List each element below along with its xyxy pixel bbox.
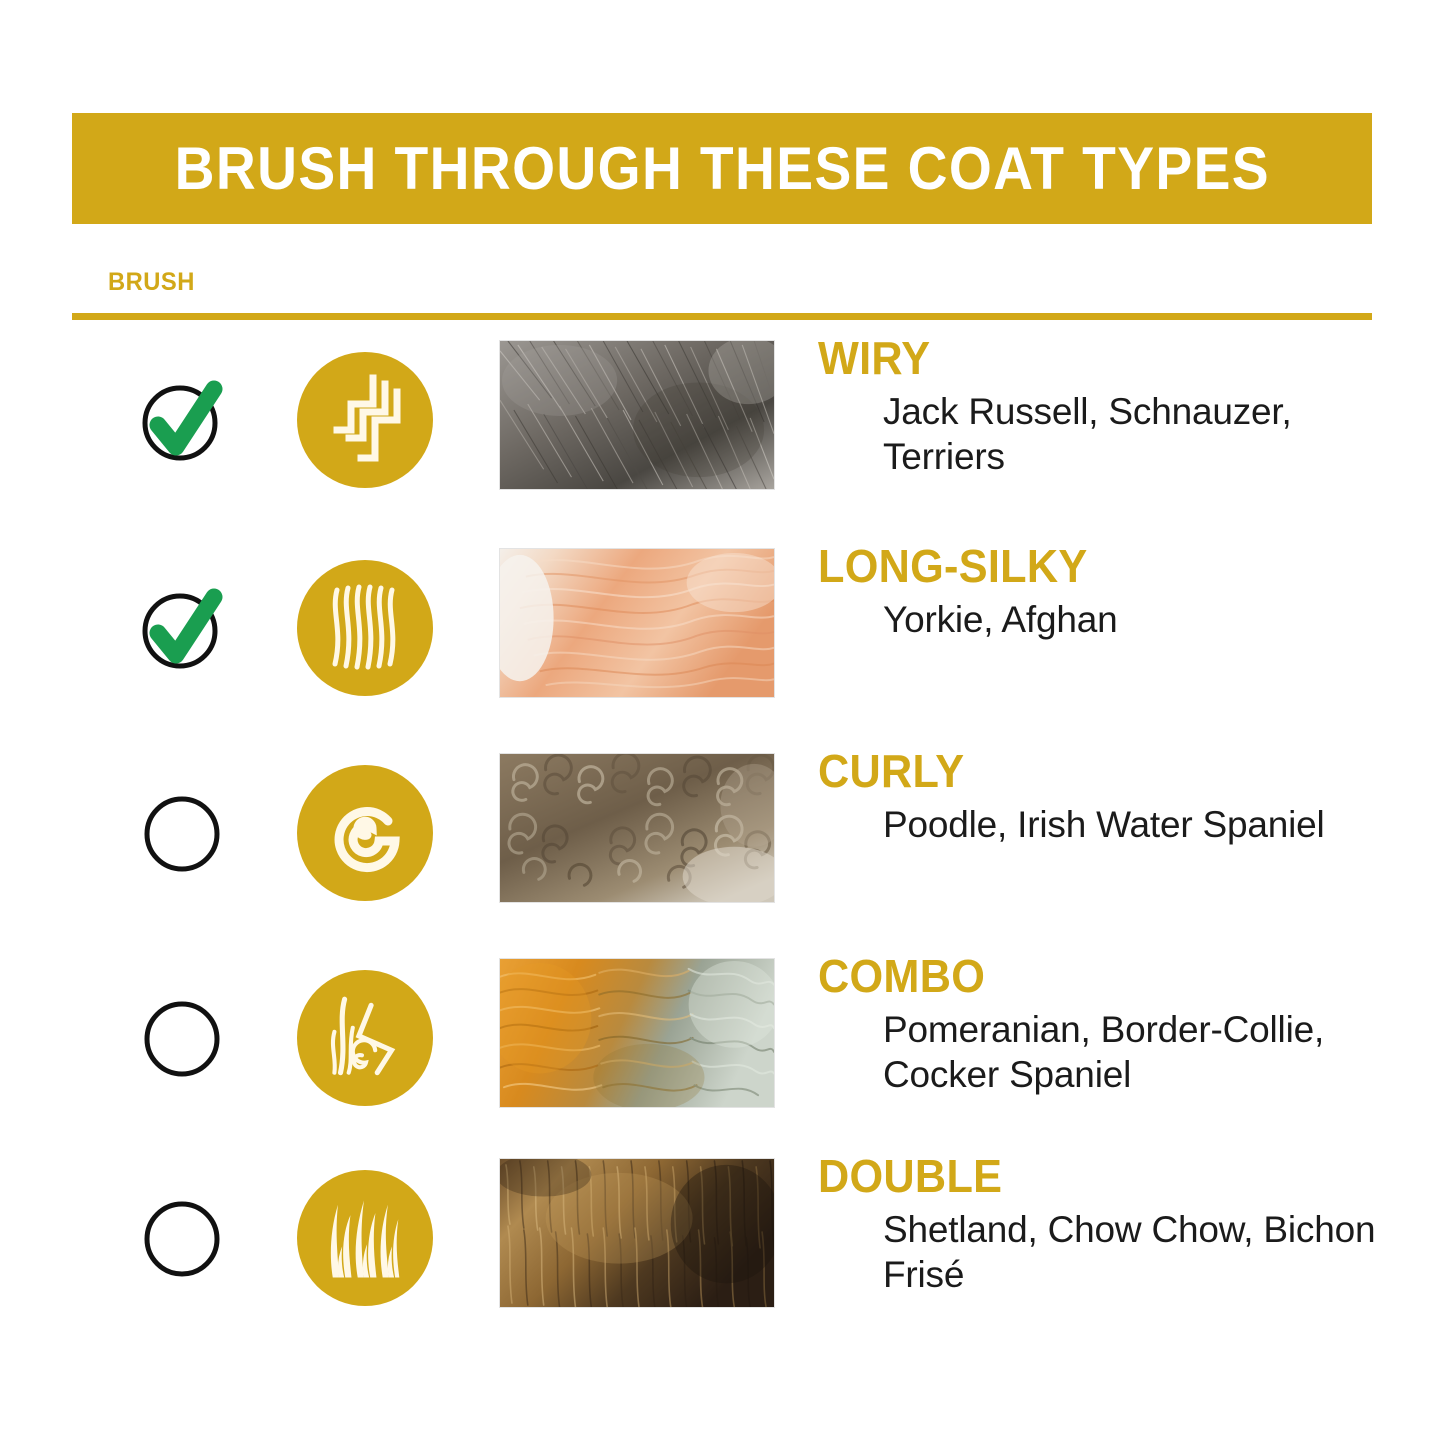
- page-title: BRUSH THROUGH THESE COAT TYPES: [174, 139, 1269, 199]
- coat-type-name: COMBO: [818, 952, 1382, 1001]
- list-item: CURLY Poodle, Irish Water Spaniel: [0, 753, 1445, 958]
- long-silky-coat-photo: [499, 548, 775, 698]
- icon-circle: [297, 1170, 433, 1306]
- coat-icon-cell-long-silky: [285, 548, 445, 708]
- double-fur-texture: [500, 1159, 774, 1307]
- combo-fur-texture: [500, 959, 774, 1107]
- curly-fur-texture: [500, 754, 774, 902]
- brush-checkbox-wiry[interactable]: [120, 340, 250, 500]
- double-strands-icon: [313, 1186, 417, 1290]
- coat-breed-list: Pomeranian, Border-Collie, Cocker Spanie…: [883, 1007, 1418, 1097]
- list-item: DOUBLE Shetland, Chow Chow, Bichon Frisé: [0, 1158, 1445, 1358]
- wiry-fur-texture: [500, 341, 774, 489]
- coat-type-name: LONG-SILKY: [818, 542, 1382, 591]
- check-circle-icon: [130, 365, 240, 475]
- coat-type-name: CURLY: [818, 747, 1382, 796]
- coat-icon-cell-wiry: [285, 340, 445, 500]
- coat-text-double: DOUBLE Shetland, Chow Chow, Bichon Frisé: [818, 1152, 1418, 1297]
- coat-type-list: WIRY Jack Russell, Schnauzer, Terriers: [0, 340, 1445, 1358]
- combo-mixed-icon: [314, 987, 416, 1089]
- brush-checkbox-combo[interactable]: [120, 958, 250, 1118]
- column-header-brush: BRUSH: [108, 268, 195, 297]
- icon-circle: [297, 560, 433, 696]
- double-coat-photo: [499, 1158, 775, 1308]
- coat-text-wiry: WIRY Jack Russell, Schnauzer, Terriers: [818, 334, 1418, 479]
- infographic-page: BRUSH THROUGH THESE COAT TYPES BRUSH: [0, 0, 1445, 1445]
- brush-checkbox-double[interactable]: [120, 1158, 250, 1318]
- long-silky-wavy-icon: [315, 578, 415, 678]
- coat-text-combo: COMBO Pomeranian, Border-Collie, Cocker …: [818, 952, 1418, 1097]
- icon-circle: [297, 765, 433, 901]
- icon-circle: [297, 970, 433, 1106]
- wiry-zigzag-icon: [315, 370, 415, 470]
- curly-coat-photo: [499, 753, 775, 903]
- brush-checkbox-long-silky[interactable]: [120, 548, 250, 708]
- icon-circle: [297, 352, 433, 488]
- coat-icon-cell-double: [285, 1158, 445, 1318]
- brush-checkbox-curly[interactable]: [120, 753, 250, 913]
- empty-circle-icon: [130, 778, 240, 888]
- list-item: COMBO Pomeranian, Border-Collie, Cocker …: [0, 958, 1445, 1158]
- coat-breed-list: Jack Russell, Schnauzer, Terriers: [883, 389, 1418, 479]
- coat-text-long-silky: LONG-SILKY Yorkie, Afghan: [818, 542, 1418, 642]
- list-item: WIRY Jack Russell, Schnauzer, Terriers: [0, 340, 1445, 548]
- coat-icon-cell-combo: [285, 958, 445, 1118]
- coat-breed-list: Shetland, Chow Chow, Bichon Frisé: [883, 1207, 1418, 1297]
- coat-breed-list: Poodle, Irish Water Spaniel: [883, 802, 1418, 847]
- coat-type-name: DOUBLE: [818, 1152, 1382, 1201]
- coat-breed-list: Yorkie, Afghan: [883, 597, 1418, 642]
- silky-fur-texture: [500, 549, 774, 697]
- coat-icon-cell-curly: [285, 753, 445, 913]
- list-item: LONG-SILKY Yorkie, Afghan: [0, 548, 1445, 753]
- wiry-coat-photo: [499, 340, 775, 490]
- combo-coat-photo: [499, 958, 775, 1108]
- coat-type-name: WIRY: [818, 334, 1382, 383]
- header-banner: BRUSH THROUGH THESE COAT TYPES: [72, 113, 1372, 224]
- empty-circle-icon: [130, 1183, 240, 1293]
- header-divider: [72, 313, 1372, 320]
- curly-spiral-icon: [315, 783, 415, 883]
- check-circle-icon: [130, 573, 240, 683]
- coat-text-curly: CURLY Poodle, Irish Water Spaniel: [818, 747, 1418, 847]
- empty-circle-icon: [130, 983, 240, 1093]
